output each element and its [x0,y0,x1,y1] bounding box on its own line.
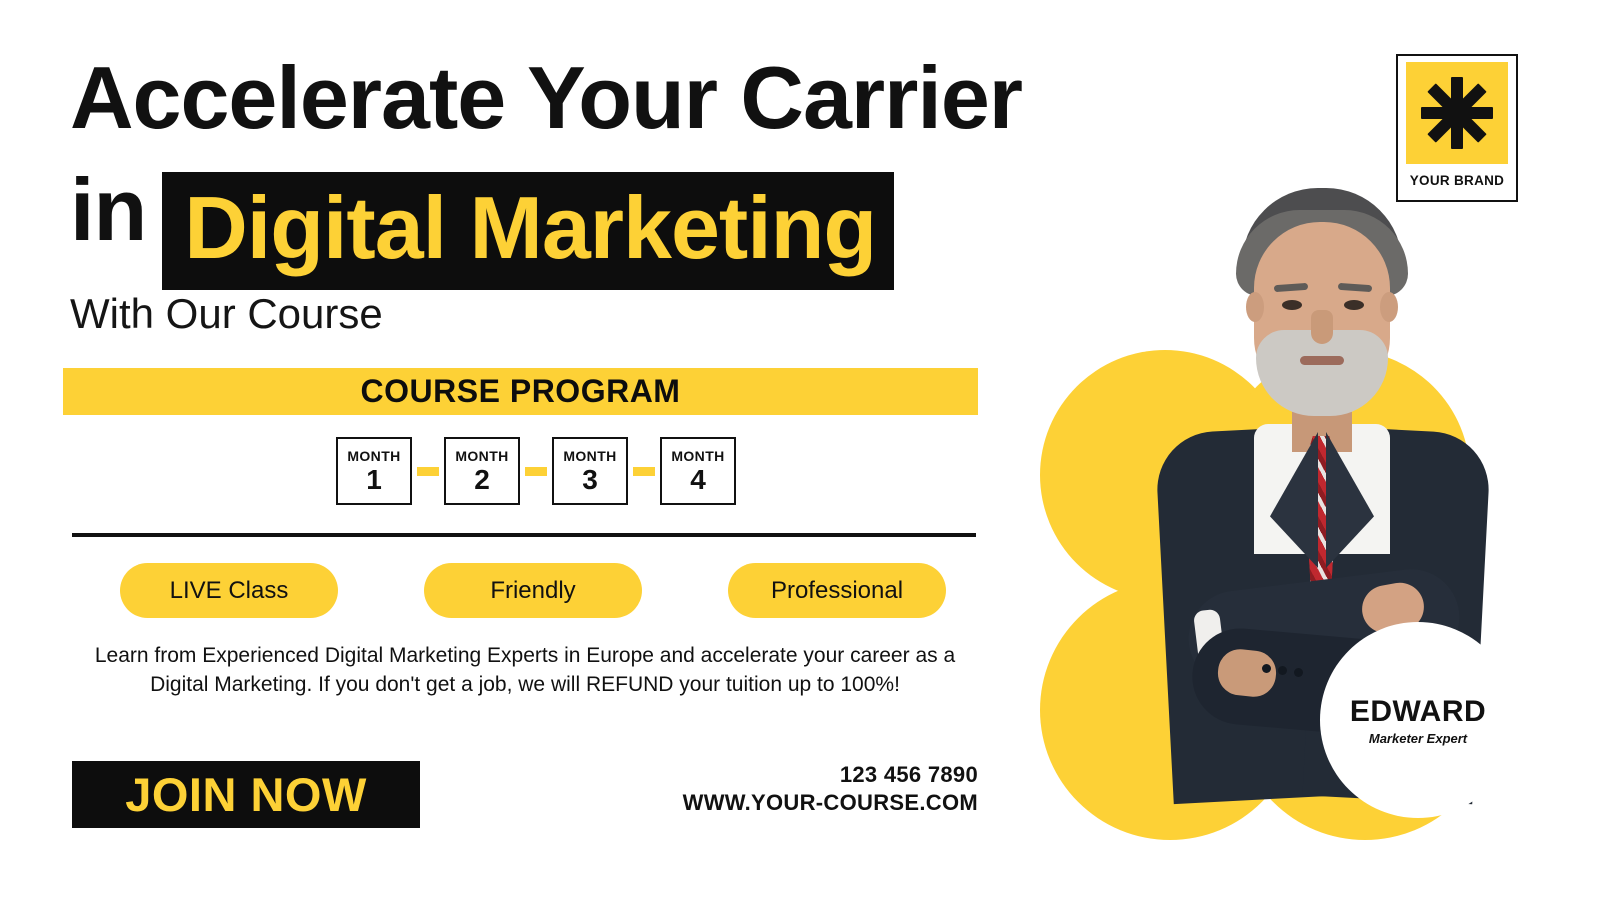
subheadline: With Our Course [70,290,383,338]
headline-prefix: in [70,160,146,259]
feature-pill-friendly[interactable]: Friendly [424,563,642,618]
month-box: MONTH 3 [552,437,628,505]
nose [1311,310,1333,344]
ear-left [1246,292,1264,322]
instructor-name: EDWARD [1350,695,1486,729]
contact-info: 123 456 7890 WWW.YOUR-COURSE.COM [683,762,978,816]
instructor-role: Marketer Expert [1369,731,1467,746]
section-divider [72,533,976,537]
feature-pill-professional[interactable]: Professional [728,563,946,618]
month-number: 2 [474,465,490,495]
body-copy: Learn from Experienced Digital Marketing… [72,641,978,699]
timeline-connector-icon [417,467,439,476]
month-timeline: MONTH 1 MONTH 2 MONTH 3 MONTH 4 [336,437,736,505]
feature-pill-live-class[interactable]: LIVE Class [120,563,338,618]
month-box: MONTH 2 [444,437,520,505]
headline-line-1: Accelerate Your Carrier [70,42,1190,154]
month-number: 3 [582,465,598,495]
timeline-connector-icon [633,467,655,476]
hero-artwork: EDWARD Marketer Expert [1020,180,1600,900]
join-now-label: JOIN NOW [125,767,367,822]
headline-highlight: Digital Marketing [162,172,894,290]
month-label: MONTH [671,448,724,464]
feature-pill-group: LIVE Class Friendly Professional [120,563,980,618]
asterisk-icon [1406,62,1508,164]
month-box: MONTH 4 [660,437,736,505]
instructor-name-badge: EDWARD Marketer Expert [1320,622,1516,818]
poster-canvas: Accelerate Your Carrier inDigital Market… [0,0,1600,900]
ear-right [1380,292,1398,322]
month-label: MONTH [347,448,400,464]
month-number: 1 [366,465,382,495]
contact-website[interactable]: WWW.YOUR-COURSE.COM [683,790,978,816]
sleeve-button [1294,668,1303,677]
month-number: 4 [690,465,706,495]
join-now-button[interactable]: JOIN NOW [72,761,420,828]
eye-right [1344,300,1364,310]
sleeve-button [1262,664,1271,673]
month-label: MONTH [563,448,616,464]
mouth [1300,356,1344,365]
eye-left [1282,300,1302,310]
course-program-title: COURSE PROGRAM [361,373,681,410]
contact-phone[interactable]: 123 456 7890 [683,762,978,788]
month-box: MONTH 1 [336,437,412,505]
timeline-connector-icon [525,467,547,476]
course-program-banner: COURSE PROGRAM [63,368,978,415]
sleeve-button [1278,666,1287,675]
month-label: MONTH [455,448,508,464]
